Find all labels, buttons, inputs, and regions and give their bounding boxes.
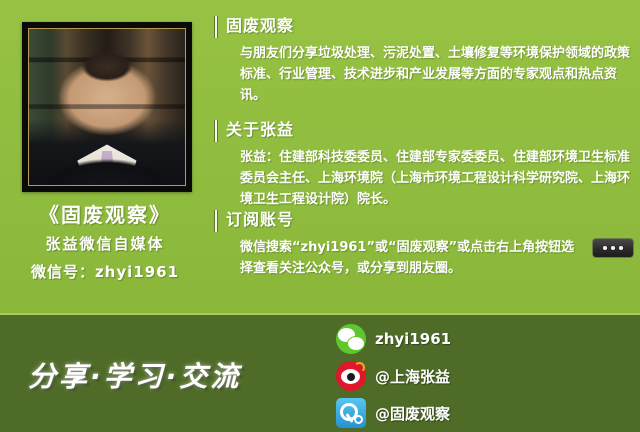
profile-wechat-id: 微信号：zhyi1961: [0, 258, 210, 286]
social-list: zhyi1961 @上海张益 @固废观察: [336, 321, 506, 432]
social-label: zhyi1961: [375, 330, 451, 348]
social-label: @上海张益: [375, 366, 450, 387]
section-title: 关于张益: [226, 120, 294, 139]
section-body: 与朋友们分享垃圾处理、污泥处置、土壤修复等环境保护领域的政策标准、行业管理、技术…: [212, 43, 640, 106]
section-body: 张益：住建部科技委委员、住建部专家委委员、住建部环境卫生标准委员会主任、上海环境…: [212, 147, 640, 210]
info-column: 固废观察 与朋友们分享垃圾处理、污泥处置、土壤修复等环境保护领域的政策标准、行业…: [212, 0, 640, 313]
footer-banner: 分享·学习·交流 zhyi1961 @上海张益 @固废观察: [0, 313, 640, 432]
section-title: 订阅账号: [226, 210, 294, 229]
section-about-zhangyi: 关于张益 张益：住建部科技委委员、住建部专家委委员、住建部环境卫生标准委员会主任…: [212, 118, 640, 210]
section-body: 微信搜索“zhyi1961”或“固废观察”或点击右上角按钮选择查看关注公众号，或…: [212, 237, 640, 279]
dot: [603, 246, 607, 250]
profile-caption: 《固废观察》 张益微信自媒体 微信号：zhyi1961: [0, 200, 210, 286]
section-header: 固废观察: [212, 14, 640, 40]
section-marker-bar-icon: [214, 210, 218, 232]
tencent-weibo-icon: [336, 398, 366, 428]
section-title: 固废观察: [226, 16, 294, 35]
section-header: 订阅账号: [212, 208, 640, 234]
profile-subtitle: 张益微信自媒体: [0, 230, 210, 258]
portrait-inner-border: [28, 28, 186, 186]
social-label: @固废观察: [375, 403, 450, 424]
section-marker-bar-icon: [214, 16, 218, 38]
more-dots-icon[interactable]: [592, 238, 634, 258]
profile-title: 《固废观察》: [0, 200, 210, 230]
upper-section: 《固废观察》 张益微信自媒体 微信号：zhyi1961 固废观察 与朋友们分享垃…: [0, 0, 640, 313]
section-about-account: 固废观察 与朋友们分享垃圾处理、污泥处置、土壤修复等环境保护领域的政策标准、行业…: [212, 14, 640, 106]
slogan-text: 分享·学习·交流: [28, 355, 241, 395]
tencent-weibo-small-circle: [354, 415, 363, 424]
section-subscribe: 订阅账号 微信搜索“zhyi1961”或“固废观察”或点击右上角按钮选择查看关注…: [212, 208, 640, 279]
promo-card: 《固废观察》 张益微信自媒体 微信号：zhyi1961 固废观察 与朋友们分享垃…: [0, 0, 640, 432]
social-row-wechat[interactable]: zhyi1961: [336, 321, 506, 357]
necktie: [98, 151, 115, 185]
portrait-photo: [29, 29, 185, 185]
section-marker-bar-icon: [214, 120, 218, 142]
portrait-frame: [22, 22, 192, 192]
wechat-icon: [336, 324, 366, 354]
social-row-tencent-weibo[interactable]: @固废观察: [336, 395, 506, 431]
dot: [619, 246, 623, 250]
shirt-collar: [77, 144, 136, 185]
social-row-weibo[interactable]: @上海张益: [336, 358, 506, 394]
weibo-arc-detail: [354, 362, 365, 373]
section-header: 关于张益: [212, 118, 640, 144]
weibo-icon: [336, 361, 366, 391]
profile-column: 《固废观察》 张益微信自媒体 微信号：zhyi1961: [0, 0, 210, 313]
dot: [611, 246, 615, 250]
